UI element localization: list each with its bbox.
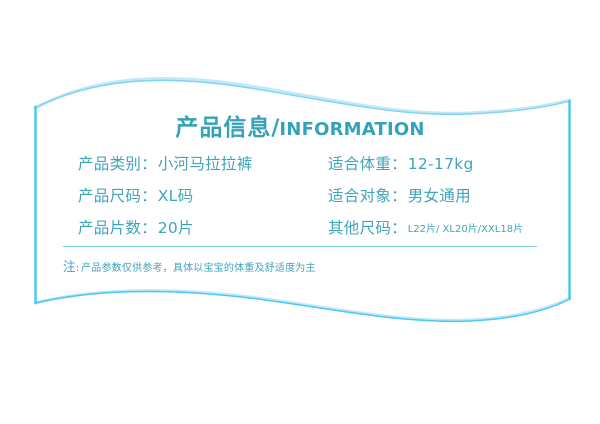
spec-suitable-weight: 适合体重 ： 12-17kg xyxy=(328,152,548,174)
spec-value: L22片/ XL20片/XXL18片 xyxy=(408,220,523,235)
table-row: 产品片数 ： 20片 其他尺码 ： L22片/ XL20片/XXL18片 xyxy=(78,216,548,248)
spec-value: 男女通用 xyxy=(408,184,471,206)
spec-label: 适合对象 xyxy=(328,184,391,206)
top-wave-outer xyxy=(35,78,570,113)
card-title-en: INFORMATION xyxy=(279,119,424,140)
product-information-card: 产品信息/INFORMATION 产品类别 ： 小河马拉拉裤 适合体重 ： 12… xyxy=(0,0,600,424)
spec-value: 20片 xyxy=(158,216,194,238)
bottom-wave-outer xyxy=(35,291,570,321)
spec-product-category: 产品类别 ： 小河马拉拉裤 xyxy=(78,152,328,174)
spec-label: 适合体重 xyxy=(328,152,391,174)
spec-target-audience: 适合对象 ： 男女通用 xyxy=(328,184,548,206)
spec-value: 小河马拉拉裤 xyxy=(158,152,253,174)
table-row: 产品类别 ： 小河马拉拉裤 适合体重 ： 12-17kg xyxy=(78,152,548,184)
card-title-cn: 产品信息 xyxy=(175,115,271,141)
footnote: 注 : 产品参数仅供参考，具体以宝宝的体重及舒适度为主 xyxy=(63,256,316,275)
spec-label: 产品类别 xyxy=(78,152,141,174)
spec-label: 产品片数 xyxy=(78,216,141,238)
spec-separator: ： xyxy=(391,184,408,206)
spec-separator: ： xyxy=(141,152,158,174)
footnote-mark: 注 xyxy=(63,256,76,275)
top-wave-inner xyxy=(35,80,570,114)
spec-other-sizes: 其他尺码 ： L22片/ XL20片/XXL18片 xyxy=(328,216,548,238)
spec-separator: ： xyxy=(141,184,158,206)
card-title: 产品信息/INFORMATION xyxy=(0,117,600,140)
footnote-text: 产品参数仅供参考，具体以宝宝的体重及舒适度为主 xyxy=(81,259,316,274)
bottom-wave-inner xyxy=(35,291,570,321)
spec-table: 产品类别 ： 小河马拉拉裤 适合体重 ： 12-17kg 产品尺码 ： XL码 … xyxy=(78,152,548,248)
spec-value: 12-17kg xyxy=(408,155,474,173)
table-row: 产品尺码 ： XL码 适合对象 ： 男女通用 xyxy=(78,184,548,216)
spec-separator: ： xyxy=(391,152,408,174)
spec-piece-count: 产品片数 ： 20片 xyxy=(78,216,328,238)
spec-label: 其他尺码 xyxy=(328,216,391,238)
spec-product-size: 产品尺码 ： XL码 xyxy=(78,184,328,206)
spec-separator: ： xyxy=(141,216,158,238)
spec-label: 产品尺码 xyxy=(78,184,141,206)
spec-separator: ： xyxy=(391,216,408,238)
footnote-divider xyxy=(63,246,537,247)
spec-value: XL码 xyxy=(158,184,194,206)
